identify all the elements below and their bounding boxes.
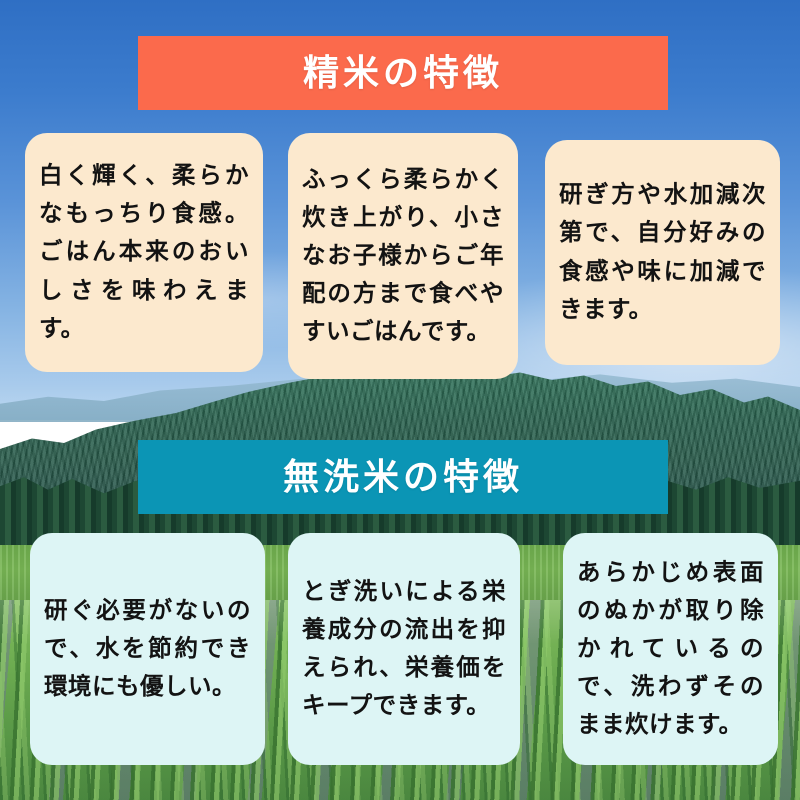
musenmai-feature-card-1: 研ぐ必要がないので、水を節約でき環境にも優しい。 [30, 533, 265, 765]
section-banner-seimai: 精米の特徴 [138, 36, 668, 110]
seimai-feature-card-2: ふっくら柔らかく炊き上がり、小さなお子様からご年配の方まで食べやすいごはんです。 [288, 133, 518, 379]
seimai-feature-card-1-text: 白く輝く、柔らかなもっちり食感。ごはん本来のおいしさを味わえます。 [39, 157, 249, 347]
musenmai-feature-card-3: あらかじめ表面のぬかが取り除かれているので、洗わずそのまま炊けます。 [563, 533, 778, 765]
musenmai-feature-card-2-text: とぎ洗いによる栄養成分の流出を抑えられ、栄養価をキープできます。 [302, 573, 506, 725]
seimai-feature-card-2-text: ふっくら柔らかく炊き上がり、小さなお子様からご年配の方まで食べやすいごはんです。 [302, 161, 504, 351]
musenmai-feature-card-2: とぎ洗いによる栄養成分の流出を抑えられ、栄養価をキープできます。 [288, 533, 520, 765]
seimai-feature-card-3: 研ぎ方や水加減次第で、自分好みの食感や味に加減できます。 [545, 140, 780, 365]
musenmai-feature-card-1-text: 研ぐ必要がないので、水を節約でき環境にも優しい。 [44, 592, 251, 706]
musenmai-feature-card-3-text: あらかじめ表面のぬかが取り除かれているので、洗わずそのまま炊けます。 [577, 554, 764, 744]
infographic-page: 精米の特徴 白く輝く、柔らかなもっちり食感。ごはん本来のおいしさを味わえます。 … [0, 0, 800, 800]
section-banner-musenmai: 無洗米の特徴 [138, 440, 668, 514]
seimai-feature-card-3-text: 研ぎ方や水加減次第で、自分好みの食感や味に加減できます。 [559, 176, 766, 328]
seimai-feature-card-1: 白く輝く、柔らかなもっちり食感。ごはん本来のおいしさを味わえます。 [25, 133, 263, 372]
